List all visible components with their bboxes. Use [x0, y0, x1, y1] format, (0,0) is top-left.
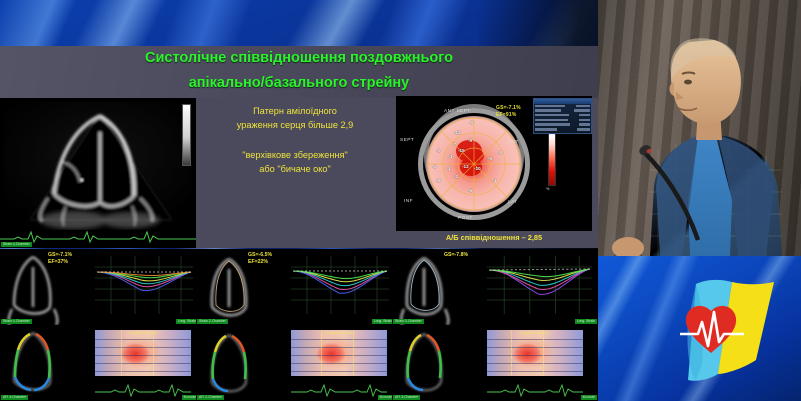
- global-strain-value: GS=-6.5%: [248, 252, 272, 259]
- measurement-info-panel: [533, 98, 592, 134]
- axis-label-post: POST: [458, 216, 473, 221]
- strain-map-title: Longitudinal strain: [291, 331, 387, 335]
- echo-color-strain-overlay-3: AFI 3-Chamber: [392, 325, 458, 401]
- segment-value: -7: [452, 142, 456, 147]
- info-row: [535, 114, 590, 118]
- segment-value: -4: [492, 178, 496, 183]
- ejection-fraction-value: EF=37%: [48, 259, 72, 266]
- text-line-4: або "бичаче око": [200, 163, 390, 177]
- strain-ef-readout: GS=-7.1% EF=37%: [48, 252, 72, 266]
- bullseye-segment-grid: [426, 116, 522, 212]
- ejection-fraction-value: EF=91%: [496, 112, 521, 119]
- strain-curve-plot-3: Long. Strain: [481, 249, 598, 325]
- panel-tag: Long. Strain: [575, 319, 597, 324]
- text-line-3: "верхівкове збереження": [200, 149, 390, 163]
- segment-value: -8: [436, 178, 440, 183]
- panel-tag: Strain 4-Chamber: [1, 319, 32, 324]
- strain-heatmap: Longitudinal strain: [291, 330, 387, 376]
- panel-tag: Long. Strain: [372, 319, 394, 324]
- depth-scale-bar: [182, 104, 191, 166]
- bullseye-chart: -5 -2 -4 -8 -6 -4 -2 -8 -6 -4 -2 -13 -15…: [414, 104, 534, 224]
- slide-title-line1: Систолічне співвідношення поздовжнього: [0, 46, 598, 71]
- strain-map-2: Longitudinal strain M-mode: [285, 325, 395, 401]
- segment-value: -9: [468, 138, 472, 143]
- panel-tag: AFI 4-Chamber: [1, 395, 28, 400]
- echo-color-overlay-image: [0, 325, 66, 401]
- strain-curve-plot-2: Long. Strain: [285, 249, 395, 325]
- speaker-figure: [598, 0, 801, 256]
- echo-color-strain-overlay-1: AFI 4-Chamber: [0, 325, 66, 401]
- panel-tag: Strain 3-Chamber: [393, 319, 424, 324]
- segment-value: -4: [448, 154, 452, 159]
- info-row: [535, 123, 590, 127]
- logo-graphic: [598, 256, 801, 401]
- axis-label-inf: INF: [404, 199, 413, 204]
- echo-apical-4chamber-main: Strain 4-Chamber: [0, 98, 196, 248]
- segment-value: -15: [458, 148, 465, 153]
- segment-value: -2: [436, 148, 440, 153]
- global-strain-value: GS=-7.1%: [48, 252, 72, 259]
- panel-tag: Strain 4-Chamber: [1, 242, 32, 247]
- info-row: [535, 128, 590, 132]
- info-panel-header: [534, 99, 591, 104]
- axis-label-sept: SEPT: [400, 138, 414, 143]
- segment-value: -5: [469, 120, 473, 125]
- video-frame: Систолічне співвідношення поздовжнього а…: [0, 0, 801, 401]
- ecg-trace: [95, 381, 191, 397]
- segment-value: -6: [488, 156, 492, 161]
- panel-row-strain-curves: Strain 4-Chamber GS=-7.1% EF=37%: [0, 249, 598, 325]
- panel-tag: AFI 3-Chamber: [393, 395, 420, 400]
- segment-value: -4: [446, 166, 450, 171]
- ecg-trace: [487, 381, 583, 397]
- global-strain-value: GS=-7.8%: [444, 252, 468, 259]
- text-line-2: ураження серця більше 2,9: [200, 119, 390, 133]
- echo-ultrasound-image: [4, 102, 192, 230]
- bullseye-stats: GS=-7.1% EF=91%: [496, 105, 521, 119]
- strain-heatmap: Longitudinal strain: [95, 330, 191, 376]
- strain-curves: [291, 256, 389, 314]
- panel-tag: AFI 2-Chamber: [197, 395, 224, 400]
- segment-value: -8: [498, 150, 502, 155]
- strain-map-title: Longitudinal strain: [487, 331, 583, 335]
- panel-tag: Strain 2-Chamber: [197, 319, 228, 324]
- info-row: [535, 119, 590, 123]
- echo-color-overlay-image: [196, 325, 262, 401]
- segment-value: -2: [454, 174, 458, 179]
- strain-map-1: Longitudinal strain M-mode: [89, 325, 199, 401]
- slide-title-line2: апікально/базального стрейну: [0, 71, 598, 96]
- panel-tag: Long. Strain: [176, 319, 198, 324]
- text-line-1: Патерн амілоїдного: [200, 105, 390, 119]
- conference-logo: [598, 256, 801, 401]
- strain-curves: [487, 256, 592, 314]
- panel-row-strain-maps: AFI 4-Chamber Longitudinal strain M-mode: [0, 325, 598, 401]
- echo-color-strain-overlay-2: AFI 2-Chamber: [196, 325, 262, 401]
- right-column: [598, 0, 801, 401]
- strain-curve-plot-1: Long. Strain: [89, 249, 199, 325]
- panel-tag: M-mode: [581, 395, 597, 400]
- speaker-video: [598, 0, 801, 256]
- ejection-fraction-value: EF=22%: [248, 259, 272, 266]
- axis-label-lat: LAT: [508, 200, 518, 205]
- strain-ef-readout: GS=-6.5% EF=22%: [248, 252, 272, 266]
- strain-curves: [95, 256, 193, 314]
- segment-value: -2: [432, 164, 436, 169]
- strain-map-3: Longitudinal strain M-mode: [481, 325, 598, 401]
- info-row: [535, 109, 590, 113]
- axis-label-ant: ANT: [508, 140, 519, 145]
- strain-ef-readout: GS=-7.8%: [444, 252, 468, 259]
- segment-value: -13: [454, 130, 461, 135]
- strain-map-title: Longitudinal strain: [95, 331, 191, 335]
- segment-value: -6: [468, 188, 472, 193]
- global-strain-value: GS=-7.1%: [496, 105, 521, 112]
- echo-color-overlay-image: [392, 325, 458, 401]
- presentation-slide: Систолічне співвідношення поздовжнього а…: [0, 0, 598, 401]
- axis-label-ant-sept: ANT SEPT: [444, 109, 471, 114]
- slide-text-block: Патерн амілоїдного ураження серця більше…: [200, 105, 390, 245]
- bullseye-polar-map-panel: -5 -2 -4 -8 -6 -4 -2 -8 -6 -4 -2 -13 -15…: [396, 96, 592, 231]
- ecg-trace: [291, 381, 387, 397]
- slide-caption: А/Б співвідношення – 2,85: [396, 233, 592, 242]
- echo-ultrasound-image: [392, 249, 458, 325]
- strain-heatmap: Longitudinal strain: [487, 330, 583, 376]
- slide-title-band: Систолічне співвідношення поздовжнього а…: [0, 46, 598, 98]
- segment-value: -12: [462, 164, 469, 169]
- info-row: [535, 105, 590, 109]
- color-scale-unit: %: [546, 186, 550, 191]
- echo-apical-3chamber-small: Strain 3-Chamber: [392, 249, 458, 325]
- segment-value: -10: [474, 166, 481, 171]
